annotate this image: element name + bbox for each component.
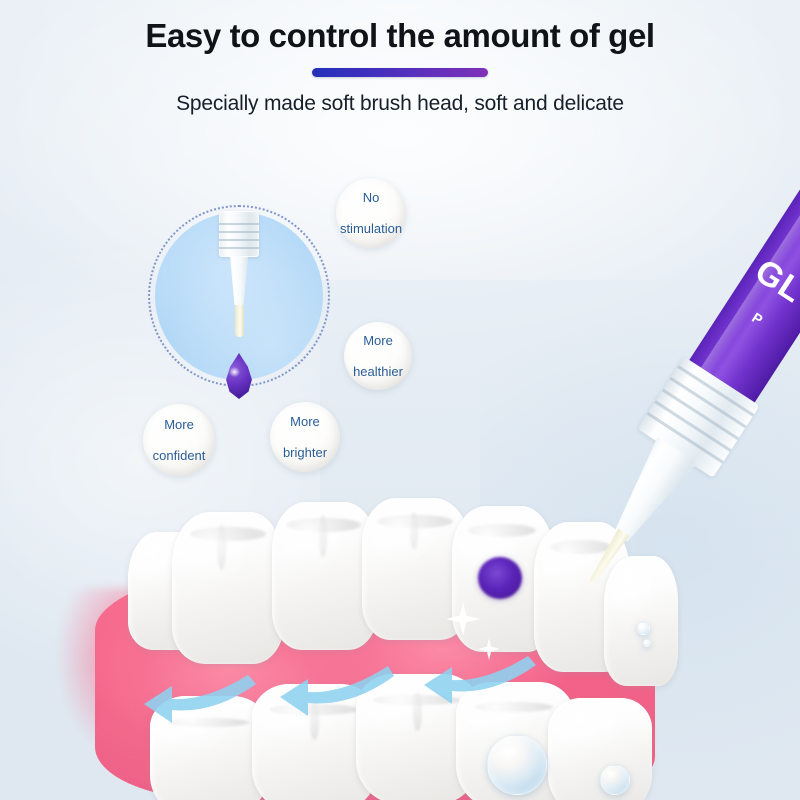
feature-bubble-more-healthier: More healthier (344, 322, 412, 390)
applicator-cap (219, 211, 259, 257)
bubble-line-2: confident (147, 448, 212, 463)
bubble-line-2: brighter (277, 445, 333, 460)
header: Easy to control the amount of gel Specia… (0, 0, 800, 116)
water-bubble-small (637, 622, 650, 635)
water-bubble-large (487, 735, 547, 795)
applicator-illustration (216, 211, 262, 337)
bubble-line-1: More (347, 333, 409, 348)
gel-drop (222, 353, 256, 399)
pen-sublogo-text: P (749, 309, 791, 344)
product-marketing-image: Easy to control the amount of gel Specia… (0, 0, 800, 800)
bubble-line-1: More (277, 414, 333, 429)
page-subtitle: Specially made soft brush head, soft and… (0, 92, 800, 116)
applied-gel-blob (478, 557, 522, 599)
tooth-lower-1 (150, 696, 268, 800)
water-bubble-medium (600, 765, 630, 795)
feature-bubble-more-brighter: More brighter (270, 402, 340, 472)
brush-tip-closeup-circle (148, 205, 330, 387)
soft-brush-head (235, 305, 244, 337)
bubble-line-2: healthier (347, 364, 409, 379)
gel-drop-highlight (229, 367, 239, 377)
feature-bubble-more-confident: More confident (143, 404, 215, 476)
bubble-line-1: More (147, 417, 212, 432)
page-title: Easy to control the amount of gel (0, 17, 800, 55)
bubble-line-1: No (334, 190, 408, 205)
gradient-divider (312, 68, 488, 77)
bubble-line-2: stimulation (334, 221, 408, 236)
gel-drop-shape (222, 353, 256, 399)
applicator-neck (225, 257, 253, 305)
pen-logo-text: GL (749, 254, 800, 317)
feature-bubble-no-stimulation: No stimulation (336, 178, 406, 248)
tooth-upper-2 (172, 512, 284, 664)
divider-wrap (0, 68, 800, 77)
water-bubble-tiny (643, 639, 651, 647)
